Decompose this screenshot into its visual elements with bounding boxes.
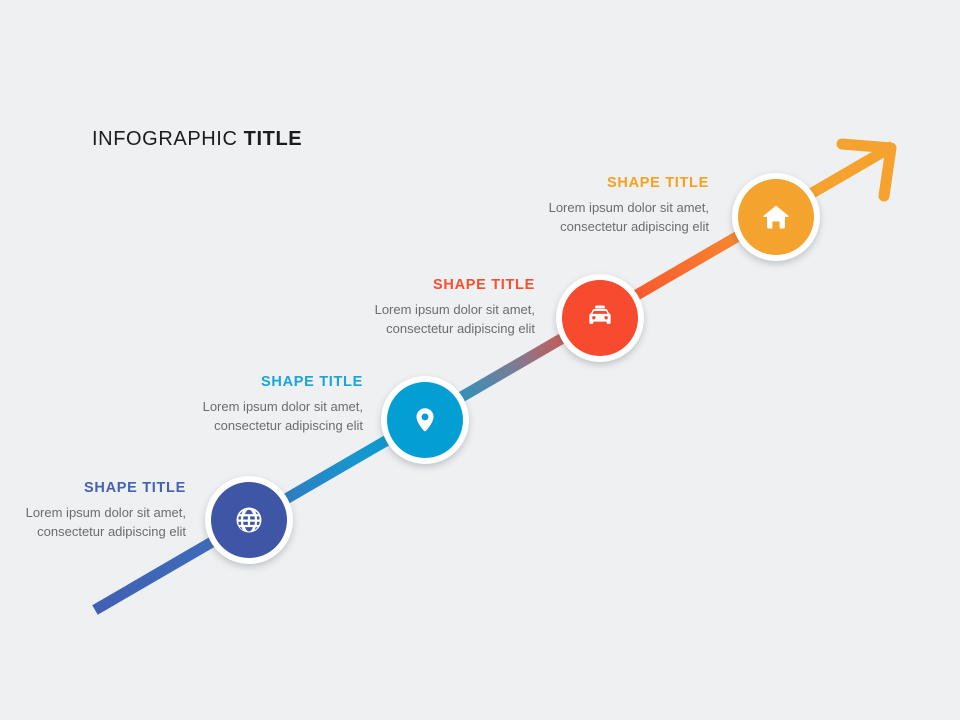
infographic-canvas: INFOGRAPHIC TITLE SHAPE TITLE Lorem ipsu… <box>0 0 960 720</box>
step-disc-3 <box>562 280 638 356</box>
page-title: INFOGRAPHIC TITLE <box>92 128 302 151</box>
step-body-3: Lorem ipsum dolor sit amet, consectetur … <box>320 300 535 338</box>
step-title-2: SHAPE TITLE <box>148 375 363 390</box>
step-node-2[interactable] <box>381 376 469 464</box>
step-body-4: Lorem ipsum dolor sit amet, consectetur … <box>494 198 709 236</box>
step-label-1: SHAPE TITLE Lorem ipsum dolor sit amet, … <box>0 481 186 541</box>
step-node-3[interactable] <box>556 274 644 362</box>
step-label-4: SHAPE TITLE Lorem ipsum dolor sit amet, … <box>494 176 709 236</box>
page-title-light: INFOGRAPHIC <box>92 128 244 150</box>
step-title-4: SHAPE TITLE <box>494 176 709 191</box>
step-disc-2 <box>387 382 463 458</box>
globe-icon <box>234 505 264 535</box>
step-label-3: SHAPE TITLE Lorem ipsum dolor sit amet, … <box>320 278 535 338</box>
taxi-icon <box>584 302 616 334</box>
step-title-3: SHAPE TITLE <box>320 278 535 293</box>
map-pin-icon <box>409 404 441 436</box>
page-title-bold: TITLE <box>244 128 303 150</box>
step-body-2: Lorem ipsum dolor sit amet, consectetur … <box>148 397 363 435</box>
step-node-1[interactable] <box>205 476 293 564</box>
step-title-1: SHAPE TITLE <box>0 481 186 496</box>
arrow-path <box>0 0 960 720</box>
step-label-2: SHAPE TITLE Lorem ipsum dolor sit amet, … <box>148 375 363 435</box>
step-disc-1 <box>211 482 287 558</box>
step-body-1: Lorem ipsum dolor sit amet, consectetur … <box>0 503 186 541</box>
step-disc-4 <box>738 179 814 255</box>
step-node-4[interactable] <box>732 173 820 261</box>
home-icon <box>760 201 792 233</box>
